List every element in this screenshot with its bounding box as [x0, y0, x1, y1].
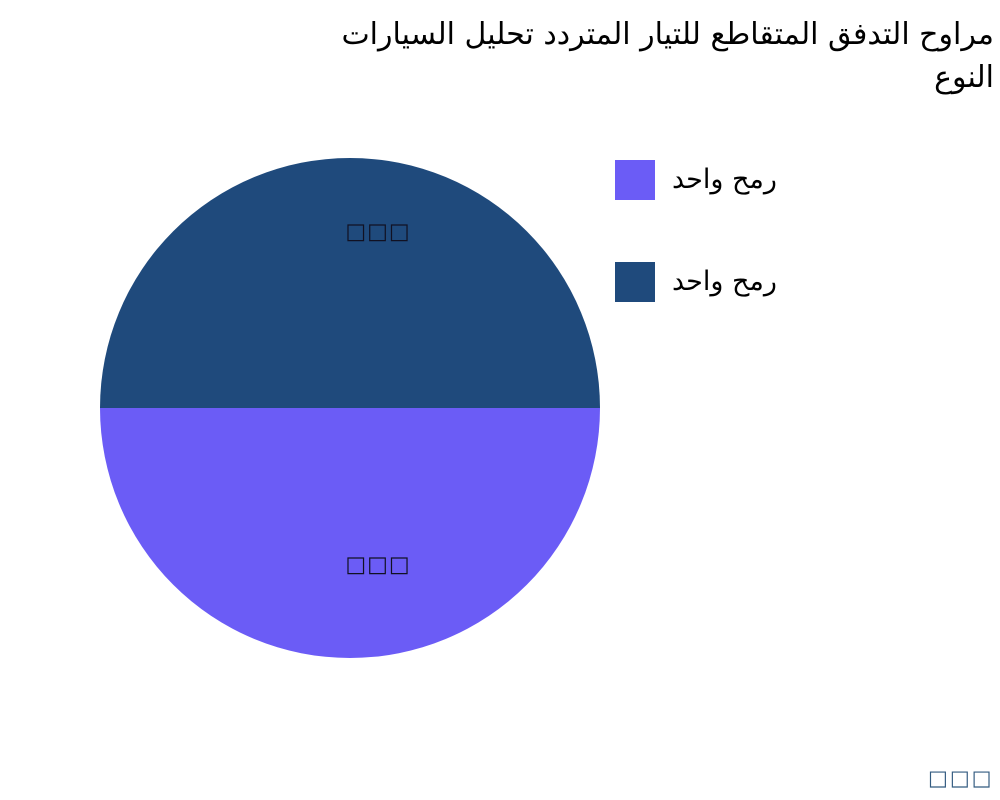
- legend-item[interactable]: رمح واحد: [615, 160, 955, 262]
- chart-corner-annotation: □□□: [928, 766, 994, 790]
- pie-slice-upper[interactable]: [100, 158, 600, 408]
- legend-item-label: رمح واحد: [672, 260, 777, 304]
- pie-slice-label-lower: □□□: [345, 553, 410, 578]
- legend-item[interactable]: رمح واحد: [615, 262, 955, 364]
- legend-item-label: رمح واحد: [672, 158, 777, 202]
- legend-swatch-icon: [615, 262, 655, 302]
- legend-swatch-icon: [615, 160, 655, 200]
- pie-slice-lower[interactable]: [100, 408, 600, 658]
- chart-figure: مراوح التدفق المتقاطع للتيار المتردد تحل…: [0, 0, 1000, 800]
- chart-legend: رمح واحد رمح واحد: [615, 160, 955, 364]
- pie-slice-label-upper: □□□: [345, 220, 410, 245]
- chart-title: مراوح التدفق المتقاطع للتيار المتردد تحل…: [0, 14, 1000, 99]
- pie-chart: □□□ □□□: [100, 158, 600, 658]
